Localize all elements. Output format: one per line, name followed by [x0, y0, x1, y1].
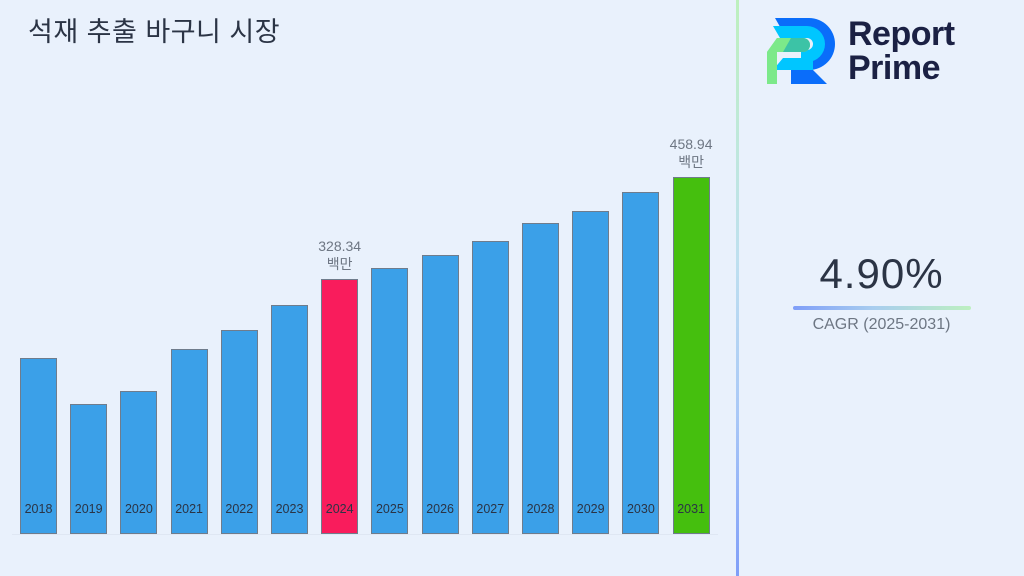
- bar-value-unit-2024: 백만: [299, 255, 380, 273]
- bar-2027[interactable]: [472, 241, 509, 534]
- x-axis-label-2031: 2031: [673, 502, 710, 516]
- cagr-block: 4.90% CAGR (2025-2031): [739, 250, 1024, 334]
- x-axis-label-2026: 2026: [422, 502, 459, 516]
- x-axis-label-2024: 2024: [321, 502, 358, 516]
- brand-logo[interactable]: Report Prime: [761, 12, 955, 90]
- brand-panel: Report Prime 4.90% CAGR (2025-2031): [739, 0, 1024, 576]
- x-axis-label-2018: 2018: [20, 502, 57, 516]
- bar-2030[interactable]: [622, 192, 659, 534]
- bar-2029[interactable]: [572, 211, 609, 534]
- bar-value-unit-2031: 백만: [651, 153, 732, 171]
- bar-2028[interactable]: [522, 223, 559, 534]
- x-axis-label-2029: 2029: [572, 502, 609, 516]
- cagr-label: CAGR (2025-2031): [739, 316, 1024, 334]
- x-axis-label-2022: 2022: [221, 502, 258, 516]
- brand-name: Report Prime: [848, 17, 955, 85]
- bar-chart: 201820192020202120222023328.34백만20242025…: [0, 0, 736, 576]
- bar-2025[interactable]: [371, 268, 408, 534]
- brand-name-line1: Report: [848, 17, 955, 51]
- bar-2023[interactable]: [271, 305, 308, 534]
- brand-name-line2: Prime: [848, 51, 955, 85]
- x-axis-label-2027: 2027: [472, 502, 509, 516]
- chart-panel: 석재 추출 바구니 시장 201820192020202120222023328…: [0, 0, 736, 576]
- bar-2031[interactable]: [673, 177, 710, 534]
- screenshot-root: 석재 추출 바구니 시장 201820192020202120222023328…: [0, 0, 1024, 576]
- report-prime-r-logo-icon: [761, 12, 835, 90]
- bar-value-label-2031: 458.94백만: [651, 135, 732, 171]
- bar-2024[interactable]: [321, 279, 358, 534]
- bar-2026[interactable]: [422, 255, 459, 534]
- chart-baseline: [12, 534, 718, 535]
- cagr-divider-rule: [793, 306, 971, 310]
- x-axis-label-2019: 2019: [70, 502, 107, 516]
- x-axis-label-2023: 2023: [271, 502, 308, 516]
- x-axis-label-2025: 2025: [371, 502, 408, 516]
- cagr-value: 4.90%: [739, 250, 1024, 298]
- x-axis-label-2028: 2028: [522, 502, 559, 516]
- x-axis-label-2021: 2021: [171, 502, 208, 516]
- x-axis-label-2030: 2030: [622, 502, 659, 516]
- x-axis-label-2020: 2020: [120, 502, 157, 516]
- bar-value-number-2024: 328.34: [299, 237, 380, 255]
- bar-value-label-2024: 328.34백만: [299, 237, 380, 273]
- bar-value-number-2031: 458.94: [651, 135, 732, 153]
